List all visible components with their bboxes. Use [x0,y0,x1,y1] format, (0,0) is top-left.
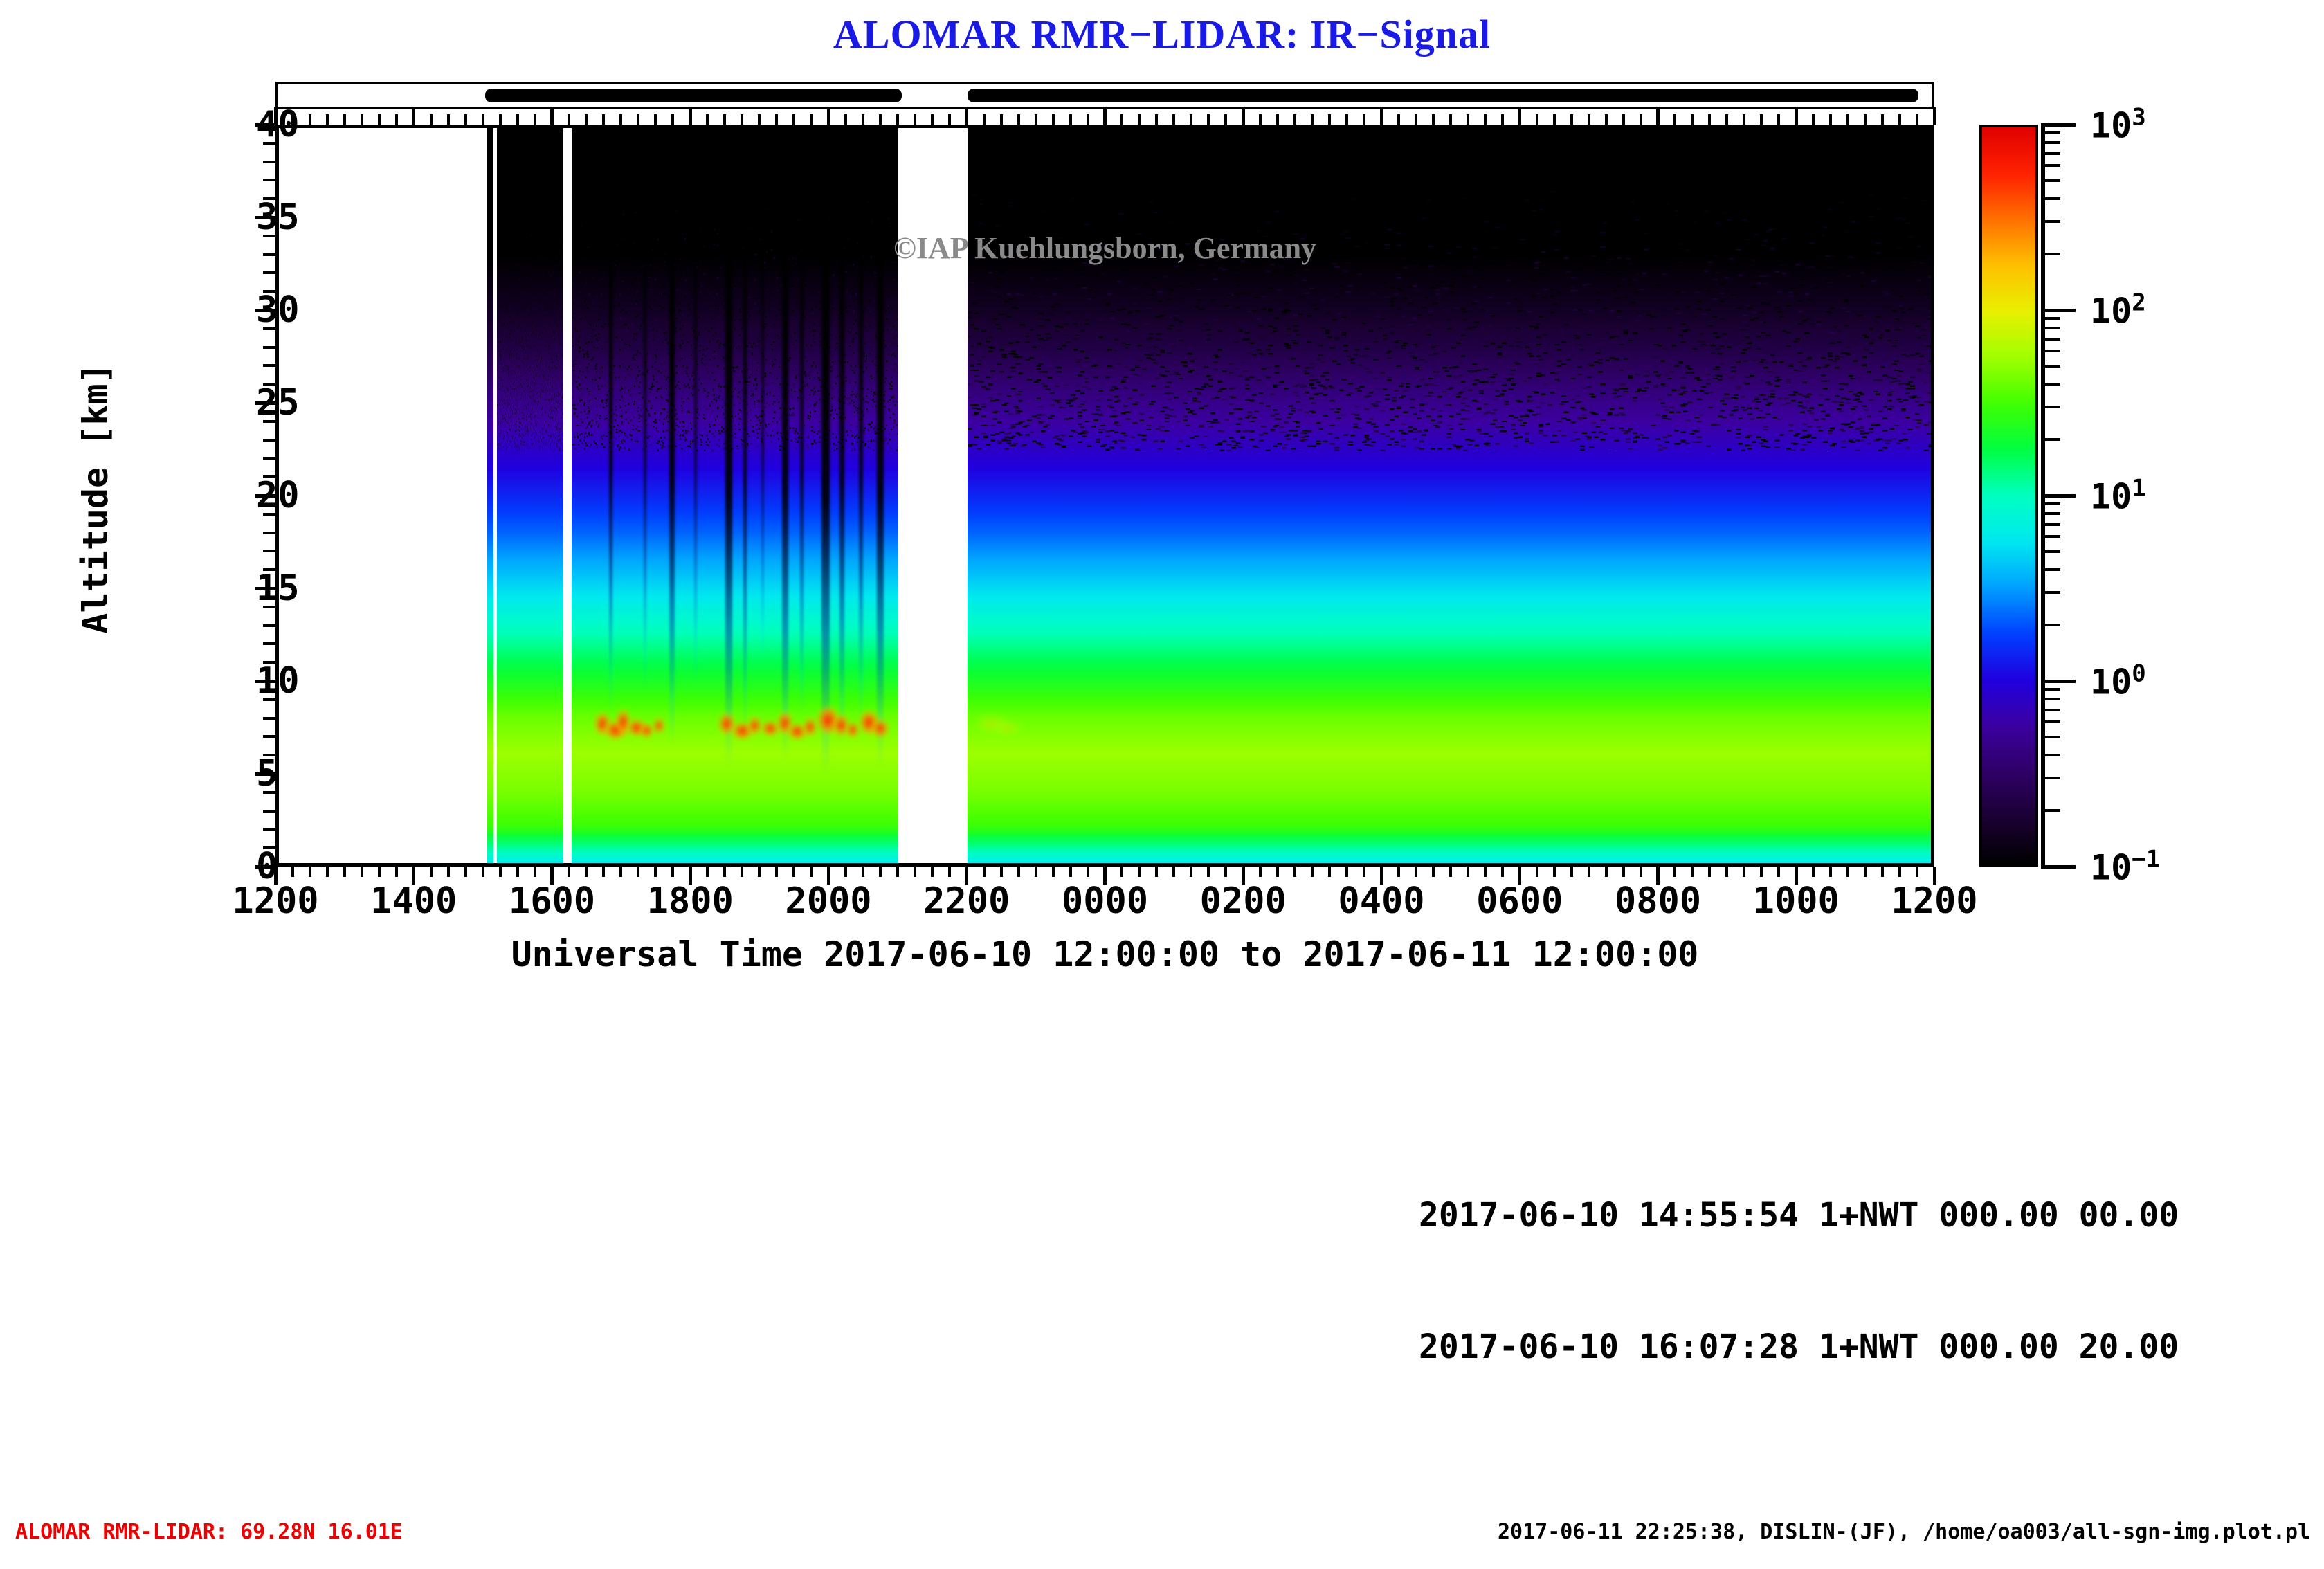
x-axis-minor-tick [395,867,398,877]
x-axis-minor-tick [1293,867,1296,877]
x-axis-minor-tick [1864,867,1867,877]
x-axis-minor-tick [723,114,726,125]
x-axis-minor-tick [1536,867,1538,877]
x-axis-minor-tick [706,867,709,877]
colorbar-major-tick [2041,865,2076,869]
x-axis-minor-tick [948,867,951,877]
x-axis-minor-tick [741,114,743,125]
x-axis-minor-tick [654,867,657,877]
x-axis-minor-tick [1328,114,1331,125]
x-axis-minor-tick [792,114,795,125]
colorbar-minor-tick [2041,720,2060,723]
x-axis-minor-tick [378,114,381,125]
x-axis-minor-tick [1605,867,1608,877]
x-axis-minor-tick [1725,867,1728,877]
x-axis-major-tick [550,107,554,125]
x-axis-major-tick [1795,107,1798,125]
x-axis-minor-tick [1172,114,1175,125]
x-axis-minor-tick [585,114,588,125]
colorbar-minor-tick [2041,338,2060,341]
x-axis-major-tick [1242,107,1245,125]
x-axis-minor-tick [1276,867,1279,877]
x-axis-minor-tick [1588,114,1590,125]
x-axis-major-tick [1518,107,1521,125]
x-axis-minor-tick [1881,114,1884,125]
colorbar-minor-tick [2041,754,2060,756]
x-axis-major-tick [1656,107,1660,125]
colorbar-tick-label: 101 [2090,475,2146,517]
aerosol-blob [872,719,889,738]
x-axis-minor-tick [447,114,450,125]
x-axis-major-tick [965,107,968,125]
x-axis-minor-tick [810,867,813,877]
x-axis-minor-tick [1640,867,1642,877]
x-axis-minor-tick [326,867,329,877]
x-axis-minor-tick [1622,867,1625,877]
x-axis-major-tick [827,107,830,125]
x-axis-minor-tick [309,114,311,125]
x-axis-minor-tick [291,867,294,877]
x-axis-minor-tick [1812,114,1815,125]
x-axis-minor-tick [1276,114,1279,125]
x-axis-minor-tick [1000,867,1003,877]
x-axis-minor-tick [568,114,570,125]
x-axis-tick-label: 1800 [647,880,734,922]
heatmap-canvas: ©IAP Kuehlungsborn, Germany [279,128,1931,863]
x-axis-minor-tick [1484,867,1487,877]
y-axis-minor-tick [263,810,275,813]
y-axis-minor-tick [263,846,275,849]
x-axis-minor-tick [1155,114,1158,125]
colorbar-minor-tick [2041,535,2060,538]
colorbar-major-tick [2041,494,2076,498]
x-axis-minor-tick [1829,114,1832,125]
y-axis-minor-tick [263,179,275,181]
x-axis-minor-tick [741,867,743,877]
x-axis-minor-tick [671,114,674,125]
x-axis-minor-tick [1864,114,1867,125]
x-axis-minor-tick [1035,867,1037,877]
x-axis-minor-tick [1501,867,1504,877]
x-axis-minor-tick [1743,867,1745,877]
x-axis-minor-tick [1536,114,1538,125]
x-axis-minor-tick [1640,114,1642,125]
x-axis-minor-tick [879,114,882,125]
x-axis-minor-tick [1000,114,1003,125]
x-axis-minor-tick [378,867,381,877]
x-axis-minor-tick [1881,867,1884,877]
x-axis-tick-label: 2000 [785,880,871,922]
info-line: 2017-06-10 16:07:28 1+NWT 000.00 20.00 [1419,1325,2179,1369]
x-axis-minor-tick [931,867,934,877]
x-axis-tick-label: 0800 [1615,880,1701,922]
aerosol-blob [761,720,779,736]
colorbar-minor-tick [2041,512,2060,515]
x-axis-minor-tick [1311,114,1314,125]
colorbar-tick-label: 10−1 [2090,846,2160,888]
x-axis-minor-tick [1743,114,1745,125]
colorbar-minor-tick [2041,141,2060,144]
x-axis-minor-tick [1846,867,1849,877]
x-axis-minor-tick [619,867,622,877]
y-axis-minor-tick [263,271,275,274]
x-axis-minor-tick [671,867,674,877]
x-axis-minor-tick [1415,114,1417,125]
x-axis-tick-label: 0000 [1062,880,1148,922]
y-axis-minor-tick [263,364,275,367]
x-axis-minor-tick [1449,114,1452,125]
colorbar-minor-tick [2041,502,2060,505]
x-axis-minor-tick [1069,867,1072,877]
x-axis-minor-tick [1777,867,1780,877]
colorbar-minor-tick [2041,698,2060,700]
colorbar-minor-tick [2041,568,2060,571]
x-axis-minor-tick [810,114,813,125]
y-axis-minor-tick [263,828,275,831]
colorbar-minor-tick [2041,383,2060,386]
x-axis-minor-tick [1017,114,1020,125]
x-axis-major-tick [1933,107,1936,125]
colorbar-minor-tick [2041,197,2060,200]
x-axis-minor-tick [1345,867,1348,877]
x-axis-minor-tick [914,114,916,125]
x-axis-minor-tick [602,867,605,877]
watermark: ©IAP Kuehlungsborn, Germany [279,230,1931,266]
x-axis-minor-tick [1691,114,1694,125]
y-axis-minor-tick [263,161,275,163]
x-axis-minor-tick [1190,114,1192,125]
y-axis-minor-tick [263,253,275,256]
x-axis-minor-tick [361,114,363,125]
x-axis-minor-tick [568,867,570,877]
x-axis-minor-tick [343,114,346,125]
x-axis-minor-tick [1052,114,1055,125]
x-axis-minor-tick [395,114,398,125]
x-axis-minor-tick [1553,867,1556,877]
measurement-info-block: 2017-06-10 14:55:54 1+NWT 000.00 00.00 2… [1419,1106,2179,1413]
x-axis-minor-tick [585,867,588,877]
x-axis-minor-tick [430,114,433,125]
x-axis-minor-tick [1432,114,1435,125]
x-axis-minor-tick [844,867,847,877]
x-axis-tick-label: 0400 [1338,880,1424,922]
colorbar-minor-tick [2041,809,2060,812]
x-axis-minor-tick [1449,867,1452,877]
station-footer: ALOMAR RMR-LIDAR: 69.28N 16.01E [15,1520,403,1544]
colorbar-minor-tick [2041,317,2060,320]
x-axis-minor-tick [1345,114,1348,125]
x-axis-minor-tick [1673,114,1676,125]
x-axis-tick-label: 1400 [370,880,457,922]
colorbar-minor-tick [2041,152,2060,155]
x-axis-minor-tick [464,867,467,877]
colorbar-minor-tick [2041,179,2060,182]
x-axis-minor-tick [1397,867,1400,877]
x-axis-minor-tick [1138,114,1141,125]
page-title: ALOMAR RMR−LIDAR: IR−Signal [0,11,2324,57]
x-axis-minor-tick [775,114,778,125]
x-axis-minor-tick [464,114,467,125]
x-axis-minor-tick [637,867,639,877]
x-axis-minor-tick [948,114,951,125]
x-axis-minor-tick [931,114,934,125]
colorbar-minor-tick [2041,523,2060,526]
y-axis-minor-tick [263,439,275,442]
colorbar-minor-tick [2041,688,2060,691]
x-axis-minor-tick [1224,867,1227,877]
availability-bar [968,89,1918,102]
x-axis-minor-tick [1224,114,1227,125]
x-axis-minor-tick [896,114,899,125]
x-axis-minor-tick [1259,867,1262,877]
x-axis-minor-tick [1207,114,1210,125]
x-axis-minor-tick [896,867,899,877]
colorbar-tick-label: 102 [2090,289,2146,332]
x-axis-minor-tick [482,114,484,125]
y-axis-minor-tick [263,717,275,720]
y-axis-minor-tick [263,290,275,293]
y-axis-minor-tick [263,383,275,386]
x-axis-minor-tick [1052,867,1055,877]
x-axis-title: Universal Time 2017-06-10 12:00:00 to 20… [241,934,1969,974]
x-axis-minor-tick [1829,867,1832,877]
x-axis-minor-tick [534,867,536,877]
x-axis-minor-tick [1570,114,1573,125]
x-axis-minor-tick [1017,867,1020,877]
x-axis-minor-tick [516,867,519,877]
x-axis-tick-label: 0200 [1200,880,1287,922]
x-axis-minor-tick [983,867,986,877]
x-axis-tick-label: 1600 [509,880,595,922]
y-axis-minor-tick [263,568,275,571]
x-axis-minor-tick [1069,114,1072,125]
x-axis-minor-tick [1605,114,1608,125]
x-axis-minor-tick [447,867,450,877]
x-axis-minor-tick [758,867,761,877]
colorbar-minor-tick [2041,350,2060,352]
x-axis-minor-tick [1898,114,1901,125]
x-axis-minor-tick [309,867,311,877]
data-availability-strip [275,82,1934,109]
x-axis-minor-tick [1898,867,1901,877]
x-axis-minor-tick [1293,114,1296,125]
colorbar-gradient [1982,127,2035,864]
colorbar-minor-tick [2041,438,2060,441]
x-axis-minor-tick [862,114,864,125]
x-axis-minor-tick [1708,867,1711,877]
colorbar-major-tick [2041,680,2076,683]
x-axis-minor-tick [1916,867,1918,877]
x-axis-minor-tick [1570,867,1573,877]
aerosol-blob [804,718,817,737]
x-axis-minor-tick [1777,114,1780,125]
colorbar-minor-tick [2041,709,2060,711]
x-axis-minor-tick [1467,867,1469,877]
x-axis-minor-tick [1207,867,1210,877]
x-axis-minor-tick [499,114,502,125]
x-axis-minor-tick [1120,867,1123,877]
x-axis-minor-tick [1501,114,1504,125]
x-axis-tick-label: 1200 [1891,880,1977,922]
colorbar-minor-tick [2041,777,2060,779]
x-axis-minor-tick [983,114,986,125]
x-axis-tick-label: 0600 [1476,880,1563,922]
colorbar-major-tick [2041,123,2076,127]
info-line: 2017-06-10 14:55:54 1+NWT 000.00 00.00 [1419,1194,2179,1237]
x-axis-minor-tick [1155,867,1158,877]
colorbar-minor-tick [2041,131,2060,134]
x-axis-minor-tick [879,867,882,877]
x-axis-tick-label: 2200 [923,880,1010,922]
aerosol-blob [748,716,761,736]
colorbar-minor-tick [2041,591,2060,594]
x-axis-minor-tick [1363,114,1365,125]
x-axis-minor-tick [637,114,639,125]
y-axis-minor-tick [263,457,275,460]
x-axis-minor-tick [1432,867,1435,877]
aerosol-blob [640,723,653,738]
x-axis-minor-tick [1363,867,1365,877]
x-axis-minor-tick [343,867,346,877]
x-axis-minor-tick [1812,867,1815,877]
x-axis-minor-tick [1725,114,1728,125]
x-axis-minor-tick [1035,114,1037,125]
x-axis-minor-tick [914,867,916,877]
y-axis-minor-tick [263,642,275,645]
x-axis-minor-tick [1916,114,1918,125]
aerosol-blob [996,722,1019,734]
colorbar-minor-tick [2041,406,2060,408]
x-axis-minor-tick [534,114,536,125]
x-axis-minor-tick [1467,114,1469,125]
x-axis-major-tick [1380,107,1383,125]
x-axis-major-tick [689,107,692,125]
aerosol-blob [653,718,665,734]
x-axis-minor-tick [1190,867,1192,877]
y-axis-title: Altitude [km] [75,291,116,706]
x-axis-minor-tick [1415,867,1417,877]
x-axis-minor-tick [1120,114,1123,125]
y-axis-minor-tick [263,475,275,478]
y-axis-minor-tick [263,624,275,627]
aerosol-blob [846,722,860,738]
y-axis-minor-tick [263,346,275,349]
availability-bar [485,89,902,102]
x-axis-minor-tick [499,867,502,877]
x-axis-minor-tick [1553,114,1556,125]
x-axis-minor-tick [1138,867,1141,877]
x-axis-minor-tick [844,114,847,125]
lidar-heatmap-plot: ©IAP Kuehlungsborn, Germany [275,125,1934,867]
colorbar-minor-tick [2041,624,2060,626]
x-axis-minor-tick [723,867,726,877]
y-axis-minor-tick [263,735,275,738]
x-axis-minor-tick [482,867,484,877]
colorbar [1979,125,2038,867]
x-axis-major-tick [1103,107,1107,125]
x-axis-major-tick [412,107,415,125]
y-axis-minor-tick [263,661,275,664]
x-axis-minor-tick [862,867,864,877]
colorbar-minor-tick [2041,365,2060,368]
x-axis-minor-tick [1760,867,1763,877]
y-axis-minor-tick [263,197,275,200]
x-axis-minor-tick [1484,114,1487,125]
x-axis-tick-label: 1000 [1753,880,1840,922]
x-axis-minor-tick [516,114,519,125]
colorbar-minor-tick [2041,736,2060,738]
x-axis-minor-tick [1760,114,1763,125]
x-axis-minor-tick [326,114,329,125]
x-axis-minor-tick [775,867,778,877]
x-axis-minor-tick [706,114,709,125]
x-axis-minor-tick [1397,114,1400,125]
x-axis-minor-tick [758,114,761,125]
colorbar-tick-label: 100 [2090,660,2146,702]
x-axis-minor-tick [1311,867,1314,877]
x-axis-minor-tick [361,867,363,877]
x-axis-minor-tick [654,114,657,125]
x-axis-minor-tick [430,867,433,877]
x-axis-minor-tick [619,114,622,125]
x-axis-minor-tick [1673,867,1676,877]
x-axis-minor-tick [602,114,605,125]
x-axis-minor-tick [1588,867,1590,877]
x-axis-minor-tick [1328,867,1331,877]
colorbar-minor-tick [2041,253,2060,255]
y-axis-minor-tick [263,532,275,534]
y-axis-minor-tick [263,550,275,552]
x-axis-minor-tick [1622,114,1625,125]
x-axis-minor-tick [1087,114,1089,125]
colorbar-minor-tick [2041,327,2060,329]
generator-footer: 2017-06-11 22:25:38, DISLIN-(JF), /home/… [1498,1520,2310,1544]
y-axis-minor-tick [263,754,275,756]
x-axis-minor-tick [1691,867,1694,877]
x-axis-minor-tick [1172,867,1175,877]
x-axis-minor-tick [1259,114,1262,125]
colorbar-major-tick [2041,309,2076,312]
colorbar-minor-tick [2041,164,2060,167]
colorbar-minor-tick [2041,220,2060,223]
x-axis-minor-tick [792,867,795,877]
x-axis-minor-tick [1708,114,1711,125]
colorbar-minor-tick [2041,550,2060,553]
colorbar-tick-label: 103 [2090,104,2146,146]
x-axis-minor-tick [1087,867,1089,877]
x-axis-minor-tick [1846,114,1849,125]
